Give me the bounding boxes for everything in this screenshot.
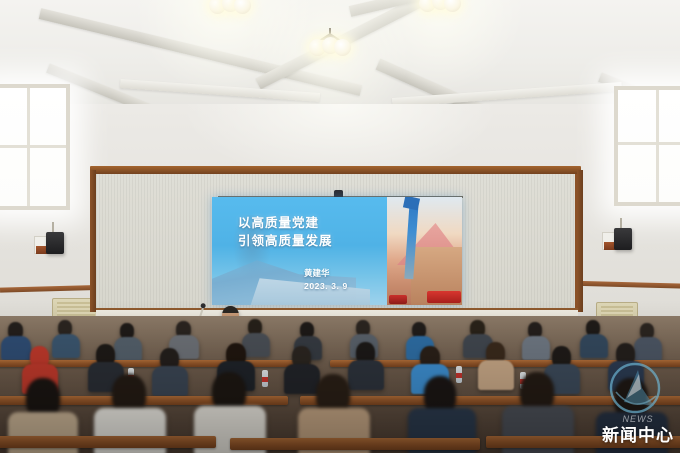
slide-meta: 黄建华 2023. 3. 9 xyxy=(304,267,414,293)
backdrop-frame-side xyxy=(90,170,96,312)
conference-hall-photo: 安全出口 以高质量党建 引领高质量发展 黄建华 2023. 3. 9 xyxy=(0,0,680,453)
backdrop-frame-side xyxy=(577,170,583,312)
slide-red-truck xyxy=(427,291,461,303)
slide-title: 以高质量党建 引领高质量发展 xyxy=(238,215,384,251)
water-bottle[interactable] xyxy=(456,366,462,383)
hall-window xyxy=(614,86,680,206)
watermark-text: 新闻中心 xyxy=(596,421,680,446)
projection-screen: 以高质量党建 引领高质量发展 黄建华 2023. 3. 9 xyxy=(212,197,462,305)
circular-play-logo-icon xyxy=(608,362,662,416)
watermark: NEWS 新闻中心 xyxy=(596,362,680,450)
slide-date: 2023. 3. 9 xyxy=(304,280,414,293)
slide-title-line-1: 以高质量党建 xyxy=(238,215,384,233)
hall-window xyxy=(0,84,70,210)
ceiling-ledge xyxy=(120,79,320,102)
slide-title-line-2: 引领高质量发展 xyxy=(238,233,384,251)
slide-crane-head xyxy=(403,197,420,210)
bench-row[interactable] xyxy=(0,436,216,448)
bench-row[interactable] xyxy=(230,438,480,450)
slide-red-truck xyxy=(389,295,407,304)
backdrop-frame-top xyxy=(90,166,581,174)
seated-audience xyxy=(0,316,680,453)
slide-presenter: 黄建华 xyxy=(304,267,414,280)
water-bottle[interactable] xyxy=(262,370,268,387)
